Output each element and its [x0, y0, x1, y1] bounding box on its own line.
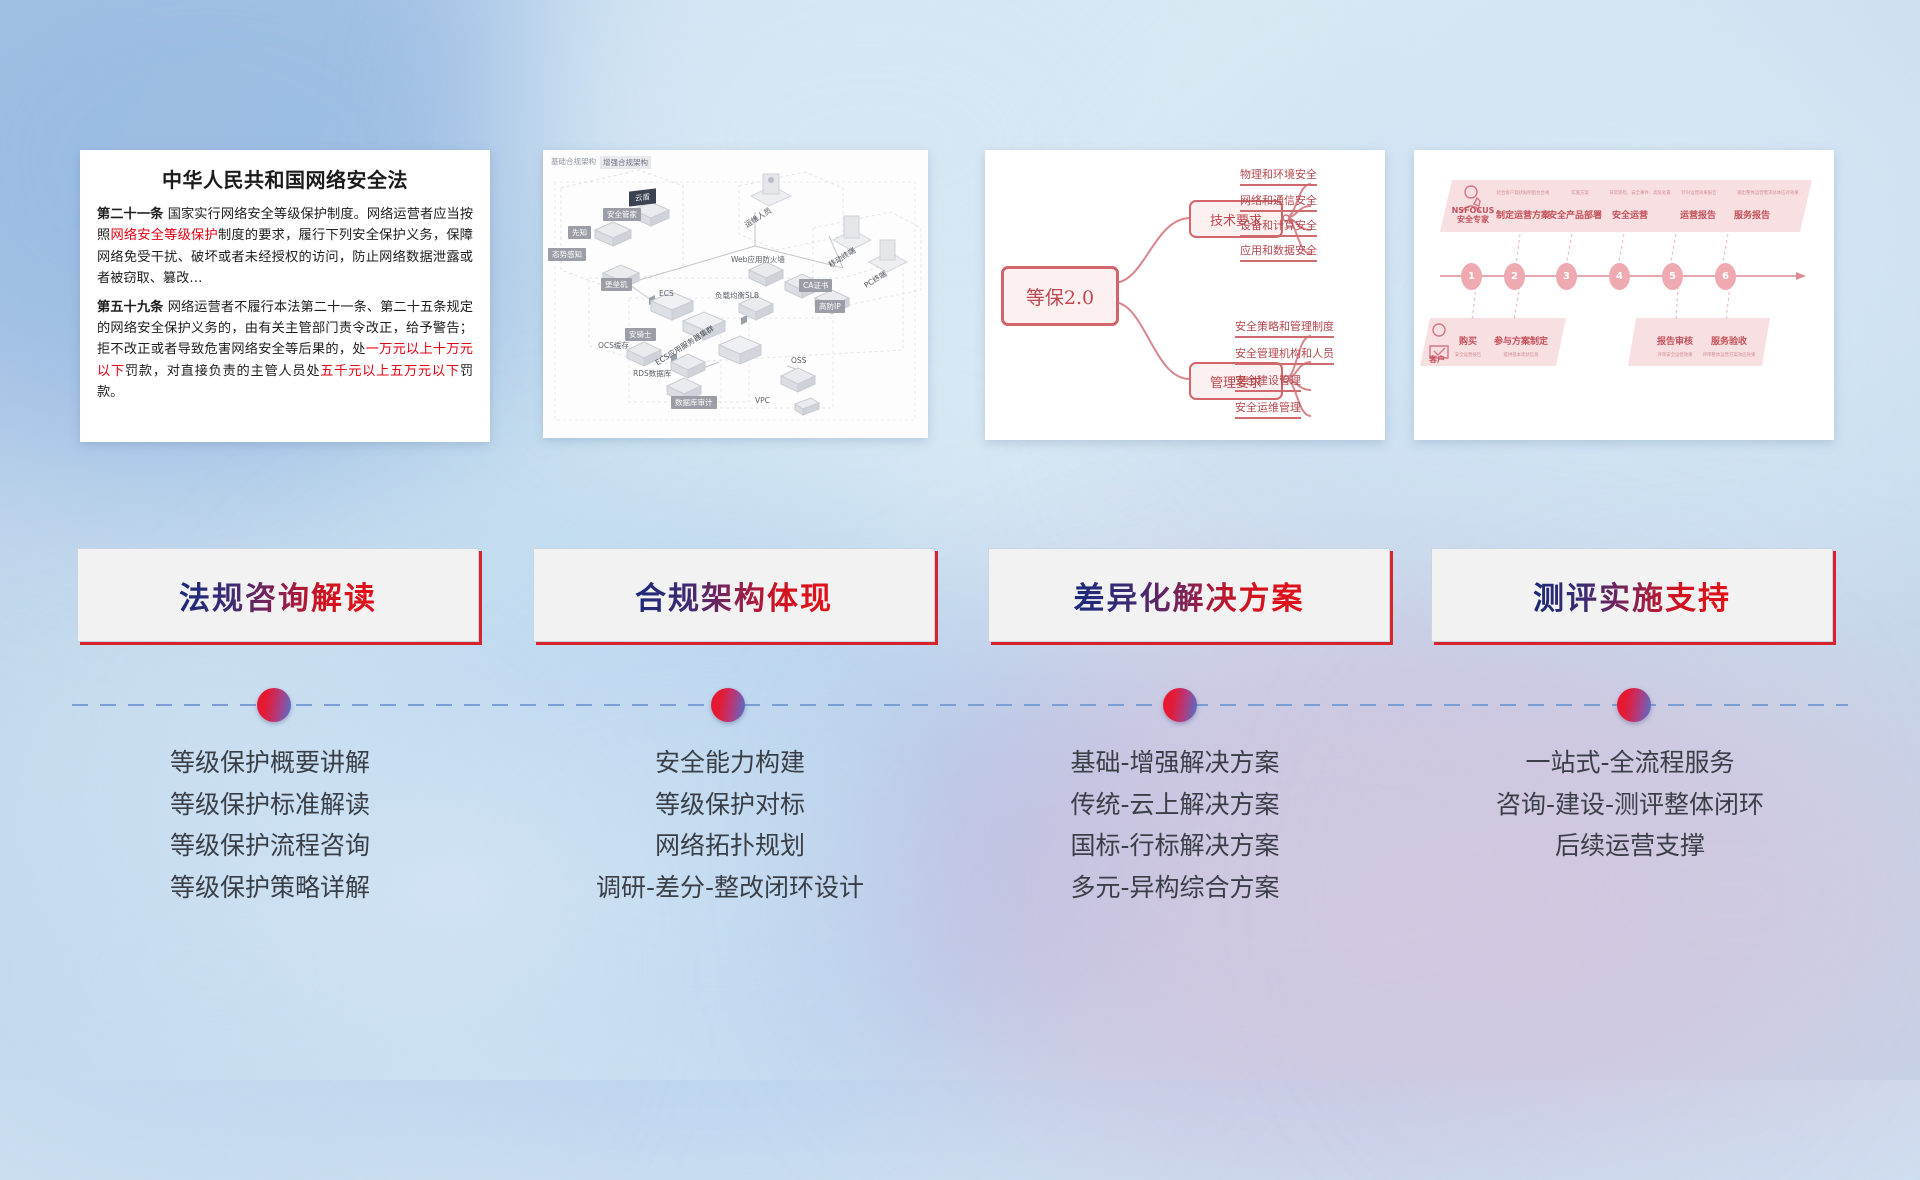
nsfocus-step-caption: 输出整体运营需求总体应对效果 — [1720, 190, 1816, 196]
arch-node-anti-ddos-ip: 高防IP — [815, 300, 845, 313]
mindmap-leaf: 物理和环境安全 — [1240, 166, 1317, 186]
section-item: 咨询-建设-测评整体闭环 — [1420, 784, 1840, 826]
arch-node-oss: OSS — [791, 356, 806, 365]
section-item: 等级保护概要讲解 — [60, 742, 480, 784]
nsfocus-step-number: 2 — [1504, 263, 1525, 290]
nsfocus-step-number: 1 — [1461, 263, 1482, 290]
thumbnail-row: 中华人民共和国网络安全法 第二十一条 国家实行网络安全等级保护制度。网络运营者应… — [0, 150, 1920, 450]
mindmap-leaf: 安全运维管理 — [1235, 399, 1301, 419]
arch-node-rds-database: RDS数据库 — [633, 368, 671, 379]
section-heading-text: 测评实施支持 — [1533, 573, 1731, 618]
timeline-dashed-line — [72, 704, 1848, 706]
nsfocus-bottom-label: 购买 — [1452, 334, 1484, 347]
nsfocus-step-number: 6 — [1715, 263, 1736, 290]
section-item: 等级保护策略详解 — [60, 867, 480, 909]
timeline-dot-2[interactable] — [711, 688, 745, 722]
mindmap-leaf: 安全策略和管理制度 — [1235, 318, 1334, 338]
section-heading-text: 法规咨询解读 — [179, 573, 377, 618]
law-article-number: 第二十一条 — [97, 207, 163, 222]
section-heading-box-4[interactable]: 测评实施支持 — [1431, 548, 1833, 642]
section-item: 等级保护对标 — [520, 784, 940, 826]
nsfocus-bottom-caption: 提供基本现状信息 — [1490, 352, 1552, 358]
nsfocus-bottom-label: 服务验收 — [1706, 334, 1752, 347]
section-item: 网络拓扑规划 — [520, 825, 940, 867]
law-title: 中华人民共和国网络安全法 — [97, 164, 473, 193]
arch-node-waf: Web应用防火墙 — [731, 254, 785, 265]
nsfocus-bottom-caption: 安全运营报告 — [1446, 352, 1490, 358]
law-run: 罚款，对直接负责的主管人员处 — [125, 364, 320, 379]
law-run-highlight: 网络安全等级保护 — [110, 228, 218, 243]
architecture-tab-basic[interactable]: 基础合规架构 — [551, 156, 596, 167]
arch-node-db-audit: 数据库审计 — [671, 396, 717, 409]
mindmap-root: 等保2.0 — [1001, 266, 1119, 326]
section-item: 传统-云上解决方案 — [965, 784, 1385, 826]
section-item: 等级保护流程咨询 — [60, 825, 480, 867]
architecture-tab-enhanced[interactable]: 增强合规架构 — [600, 156, 651, 169]
section-heading-text: 合规架构体现 — [635, 573, 833, 618]
arch-node-ca-cert: CA证书 — [799, 279, 832, 292]
nsfocus-bottom-label: 报告审核 — [1652, 334, 1698, 347]
mindmap-leaf: 应用和数据安全 — [1240, 242, 1317, 262]
arch-node-vpc: VPC — [755, 396, 770, 405]
nsfocus-step-label: 运营报告 — [1670, 208, 1726, 221]
nsfocus-step-number: 5 — [1662, 263, 1683, 290]
timeline-dot-1[interactable] — [257, 688, 291, 722]
law-run-highlight: 五千元以上五万元以下 — [320, 364, 460, 379]
arch-node-anqishi: 安骑士 — [625, 328, 656, 341]
mindmap-leaf: 安全管理机构和人员 — [1235, 345, 1334, 365]
section-heading-box-2[interactable]: 合规架构体现 — [533, 548, 935, 642]
section-item: 基础-增强解决方案 — [965, 742, 1385, 784]
card-mindmap-dengbao[interactable]: 等保2.0 技术要求 管理要求 物理和环境安全 网络和通信安全 设备和计算安全 … — [985, 150, 1385, 440]
nsfocus-step-number: 4 — [1609, 263, 1630, 290]
section-heading-row: 法规咨询解读 合规架构体现 差异化解决方案 测评实施支持 — [0, 548, 1920, 644]
card-nsfocus-timeline[interactable]: NSFOCUS安全专家 结合客户现状贴明后台合规 制定运营方案 实施方案 安全产… — [1414, 150, 1834, 440]
section-items-column-4: 一站式-全流程服务 咨询-建设-测评整体闭环 后续运营支撑 — [1420, 742, 1840, 867]
section-item: 等级保护标准解读 — [60, 784, 480, 826]
law-paragraph: 第二十一条 国家实行网络安全等级保护制度。网络运营者应当按照网络安全等级保护制度… — [97, 204, 473, 290]
law-article-number: 第五十九条 — [97, 300, 163, 315]
nsfocus-bottom-caption: 评审安全运营效果 — [1644, 352, 1706, 358]
arch-node-xianzhi: 先知 — [568, 226, 591, 239]
section-heading-text: 差异化解决方案 — [1074, 573, 1305, 618]
law-paragraph: 第五十九条 网络运营者不履行本法第二十一条、第二十五条规定的网络安全保护义务的，… — [97, 297, 473, 404]
section-item: 一站式-全流程服务 — [1420, 742, 1840, 784]
nsfocus-bottom-label: 参与方案制定 — [1490, 334, 1552, 347]
card-architecture-diagram[interactable]: 基础合规架构 增强合规架构 云盾 安全管家 先知 态势感知 堡垒机 安骑士 EC… — [543, 150, 928, 438]
arch-node-bastion-host: 堡垒机 — [601, 278, 632, 291]
section-item: 安全能力构建 — [520, 742, 940, 784]
arch-node-ocs-cache: OCS缓存 — [598, 340, 629, 351]
mindmap-leaf: 设备和计算安全 — [1240, 217, 1317, 237]
nsfocus-bottom-caption: 评审整体运营方案效应效果 — [1698, 352, 1760, 358]
timeline-dot-3[interactable] — [1163, 688, 1197, 722]
mindmap-leaf: 安全建设管理 — [1235, 372, 1301, 392]
section-item: 多元-异构综合方案 — [965, 867, 1385, 909]
section-item: 调研-差分-整改闭环设计 — [520, 867, 940, 909]
arch-node-security-butler: 安全管家 — [603, 208, 641, 221]
section-items-column-3: 基础-增强解决方案 传统-云上解决方案 国标-行标解决方案 多元-异构综合方案 — [965, 742, 1385, 908]
section-items-column-1: 等级保护概要讲解 等级保护标准解读 等级保护流程咨询 等级保护策略详解 — [60, 742, 480, 908]
arch-node-situational-awareness: 态势感知 — [548, 248, 586, 261]
nsfocus-step-number: 3 — [1556, 263, 1577, 290]
timeline-dot-4[interactable] — [1617, 688, 1651, 722]
arch-node-ecs: ECS — [659, 289, 674, 298]
section-item: 国标-行标解决方案 — [965, 825, 1385, 867]
section-item: 后续运营支撑 — [1420, 825, 1840, 867]
section-items-column-2: 安全能力构建 等级保护对标 网络拓扑规划 调研-差分-整改闭环设计 — [520, 742, 940, 908]
section-heading-box-1[interactable]: 法规咨询解读 — [77, 548, 479, 642]
section-items-row: 等级保护概要讲解 等级保护标准解读 等级保护流程咨询 等级保护策略详解 安全能力… — [0, 742, 1920, 1022]
nsfocus-step-label: 服务报告 — [1724, 208, 1780, 221]
card-law-document[interactable]: 中华人民共和国网络安全法 第二十一条 国家实行网络安全等级保护制度。网络运营者应… — [80, 150, 490, 442]
nsfocus-step-label: 安全产品部署 — [1540, 208, 1610, 221]
mindmap-leaf: 网络和通信安全 — [1240, 192, 1317, 212]
arch-node-slb: 负载均衡SLB — [715, 290, 759, 301]
nsfocus-step-label: 安全运营 — [1602, 208, 1658, 221]
section-heading-box-3[interactable]: 差异化解决方案 — [988, 548, 1390, 642]
